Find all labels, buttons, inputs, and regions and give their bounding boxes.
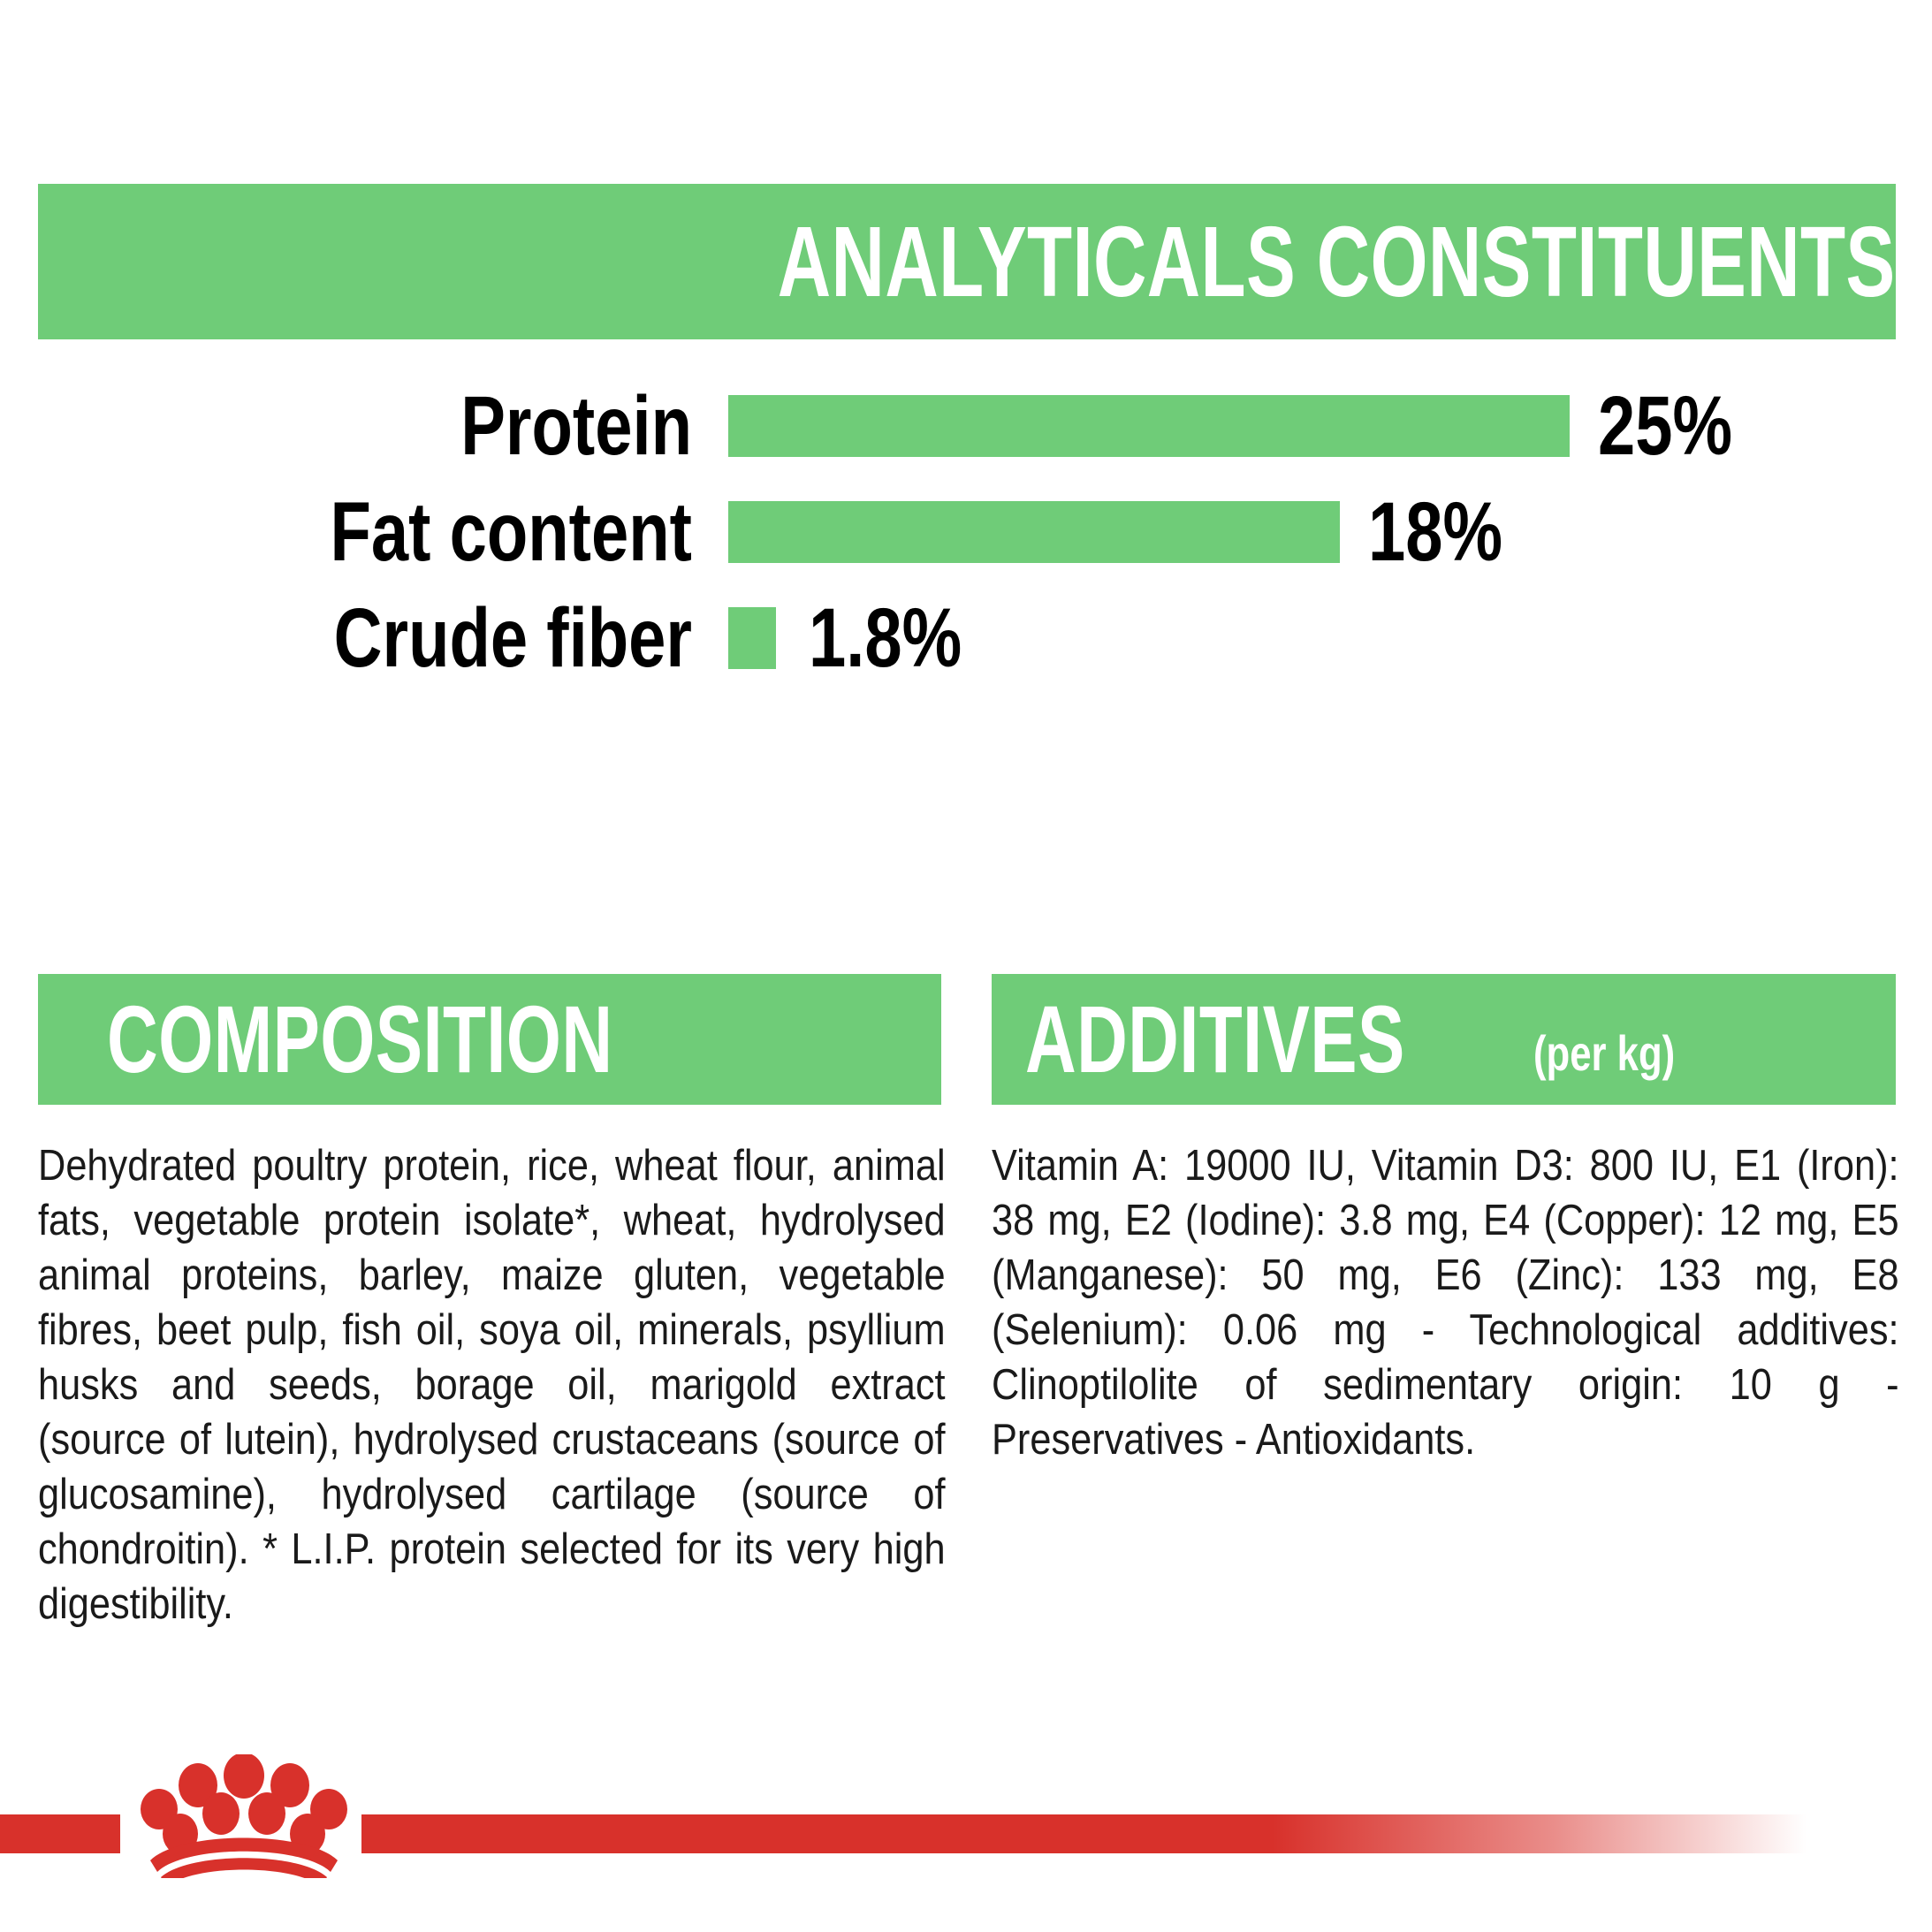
chart-bar-protein — [728, 395, 1570, 457]
royal-canin-crown-icon — [134, 1754, 354, 1878]
chart-value-crude-fiber: 1.8% — [809, 592, 962, 684]
additives-body-text: Vitamin A: 19000 IU, Vitamin D3: 800 IU,… — [992, 1138, 1899, 1467]
analyticals-constituents-banner: ANALYTICALS CONSTITUENTS — [38, 184, 1896, 339]
chart-bar-crude-fiber — [728, 607, 776, 669]
chart-label-fat-content: Fat content — [169, 486, 692, 578]
chart-value-fat-content: 18% — [1368, 486, 1502, 578]
chart-label-protein: Protein — [169, 380, 692, 472]
analyticals-bar-chart: Protein 25% Fat content 18% Crude fiber … — [38, 380, 1896, 698]
chart-row-crude-fiber: Crude fiber 1.8% — [38, 592, 1896, 684]
additives-banner: ADDITIVES (per kg) — [992, 974, 1896, 1105]
footer-rule-right — [361, 1814, 1932, 1853]
chart-row-protein: Protein 25% — [38, 380, 1896, 472]
composition-banner: COMPOSITION — [38, 974, 941, 1105]
chart-row-fat-content: Fat content 18% — [38, 486, 1896, 578]
composition-body-text: Dehydrated poultry protein, rice, wheat … — [38, 1138, 946, 1632]
chart-bar-fat-content — [728, 501, 1340, 563]
chart-value-protein: 25% — [1598, 380, 1732, 472]
analyticals-constituents-title: ANALYTICALS CONSTITUENTS — [778, 212, 1896, 312]
additives-title: ADDITIVES — [1025, 992, 1405, 1087]
footer-rule-left — [0, 1814, 120, 1853]
chart-label-crude-fiber: Crude fiber — [169, 592, 692, 684]
additives-title-suffix: (per kg) — [1533, 1029, 1675, 1078]
composition-title: COMPOSITION — [107, 992, 612, 1087]
